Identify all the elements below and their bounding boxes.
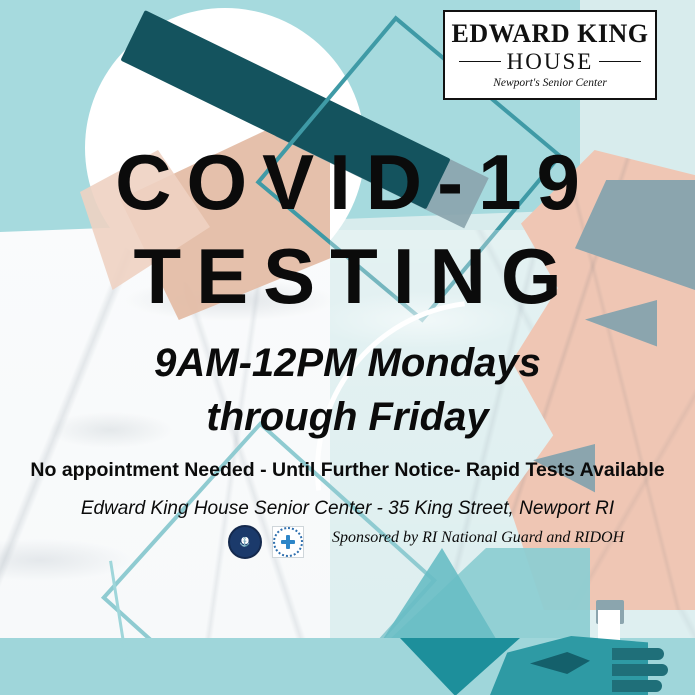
headline-line-2: TESTING [0, 237, 695, 315]
address-line: Edward King House Senior Center - 35 Kin… [0, 498, 695, 521]
logo-line-2-row: HOUSE [459, 50, 641, 73]
logo-rule-right [599, 61, 641, 62]
medical-cross-icon [281, 535, 295, 549]
ridoh-seal-icon [272, 526, 304, 558]
test-tube [598, 610, 620, 695]
teal-triangle-mid [330, 548, 530, 695]
logo-rule-left [459, 61, 501, 62]
covid-testing-flyer: EDWARD KING HOUSE Newport's Senior Cente… [0, 0, 695, 695]
hours-line-2: through Friday [0, 394, 695, 440]
hand-thumb-shadow [530, 652, 590, 674]
white-band-bottom-left [0, 638, 340, 695]
hand-fingers [612, 648, 668, 695]
test-tube-cap [596, 600, 624, 624]
hand-illustration [488, 636, 648, 695]
logo-tagline: Newport's Senior Center [493, 78, 607, 90]
sponsor-line: Sponsored by RI National Guard and RIDOH [332, 528, 624, 547]
thin-teal-line [109, 561, 134, 695]
headline-line-1: COVID-19 [0, 143, 695, 221]
ridoh-seal-ring [273, 527, 303, 557]
appointment-note: No appointment Needed - Until Further No… [0, 459, 695, 482]
hours-line-1: 9AM-12PM Mondays [0, 340, 695, 386]
sponsor-seals: ⚓ [228, 525, 304, 559]
logo-line-1: EDWARD KING [452, 21, 649, 47]
ri-national-guard-seal-icon: ⚓ [228, 525, 262, 559]
teal-band-bottom [0, 638, 695, 695]
logo-box: EDWARD KING HOUSE Newport's Senior Cente… [443, 10, 657, 100]
logo-line-2: HOUSE [501, 50, 600, 73]
teal-triangle-dark [400, 638, 520, 695]
teal-triangle-light [330, 548, 590, 695]
